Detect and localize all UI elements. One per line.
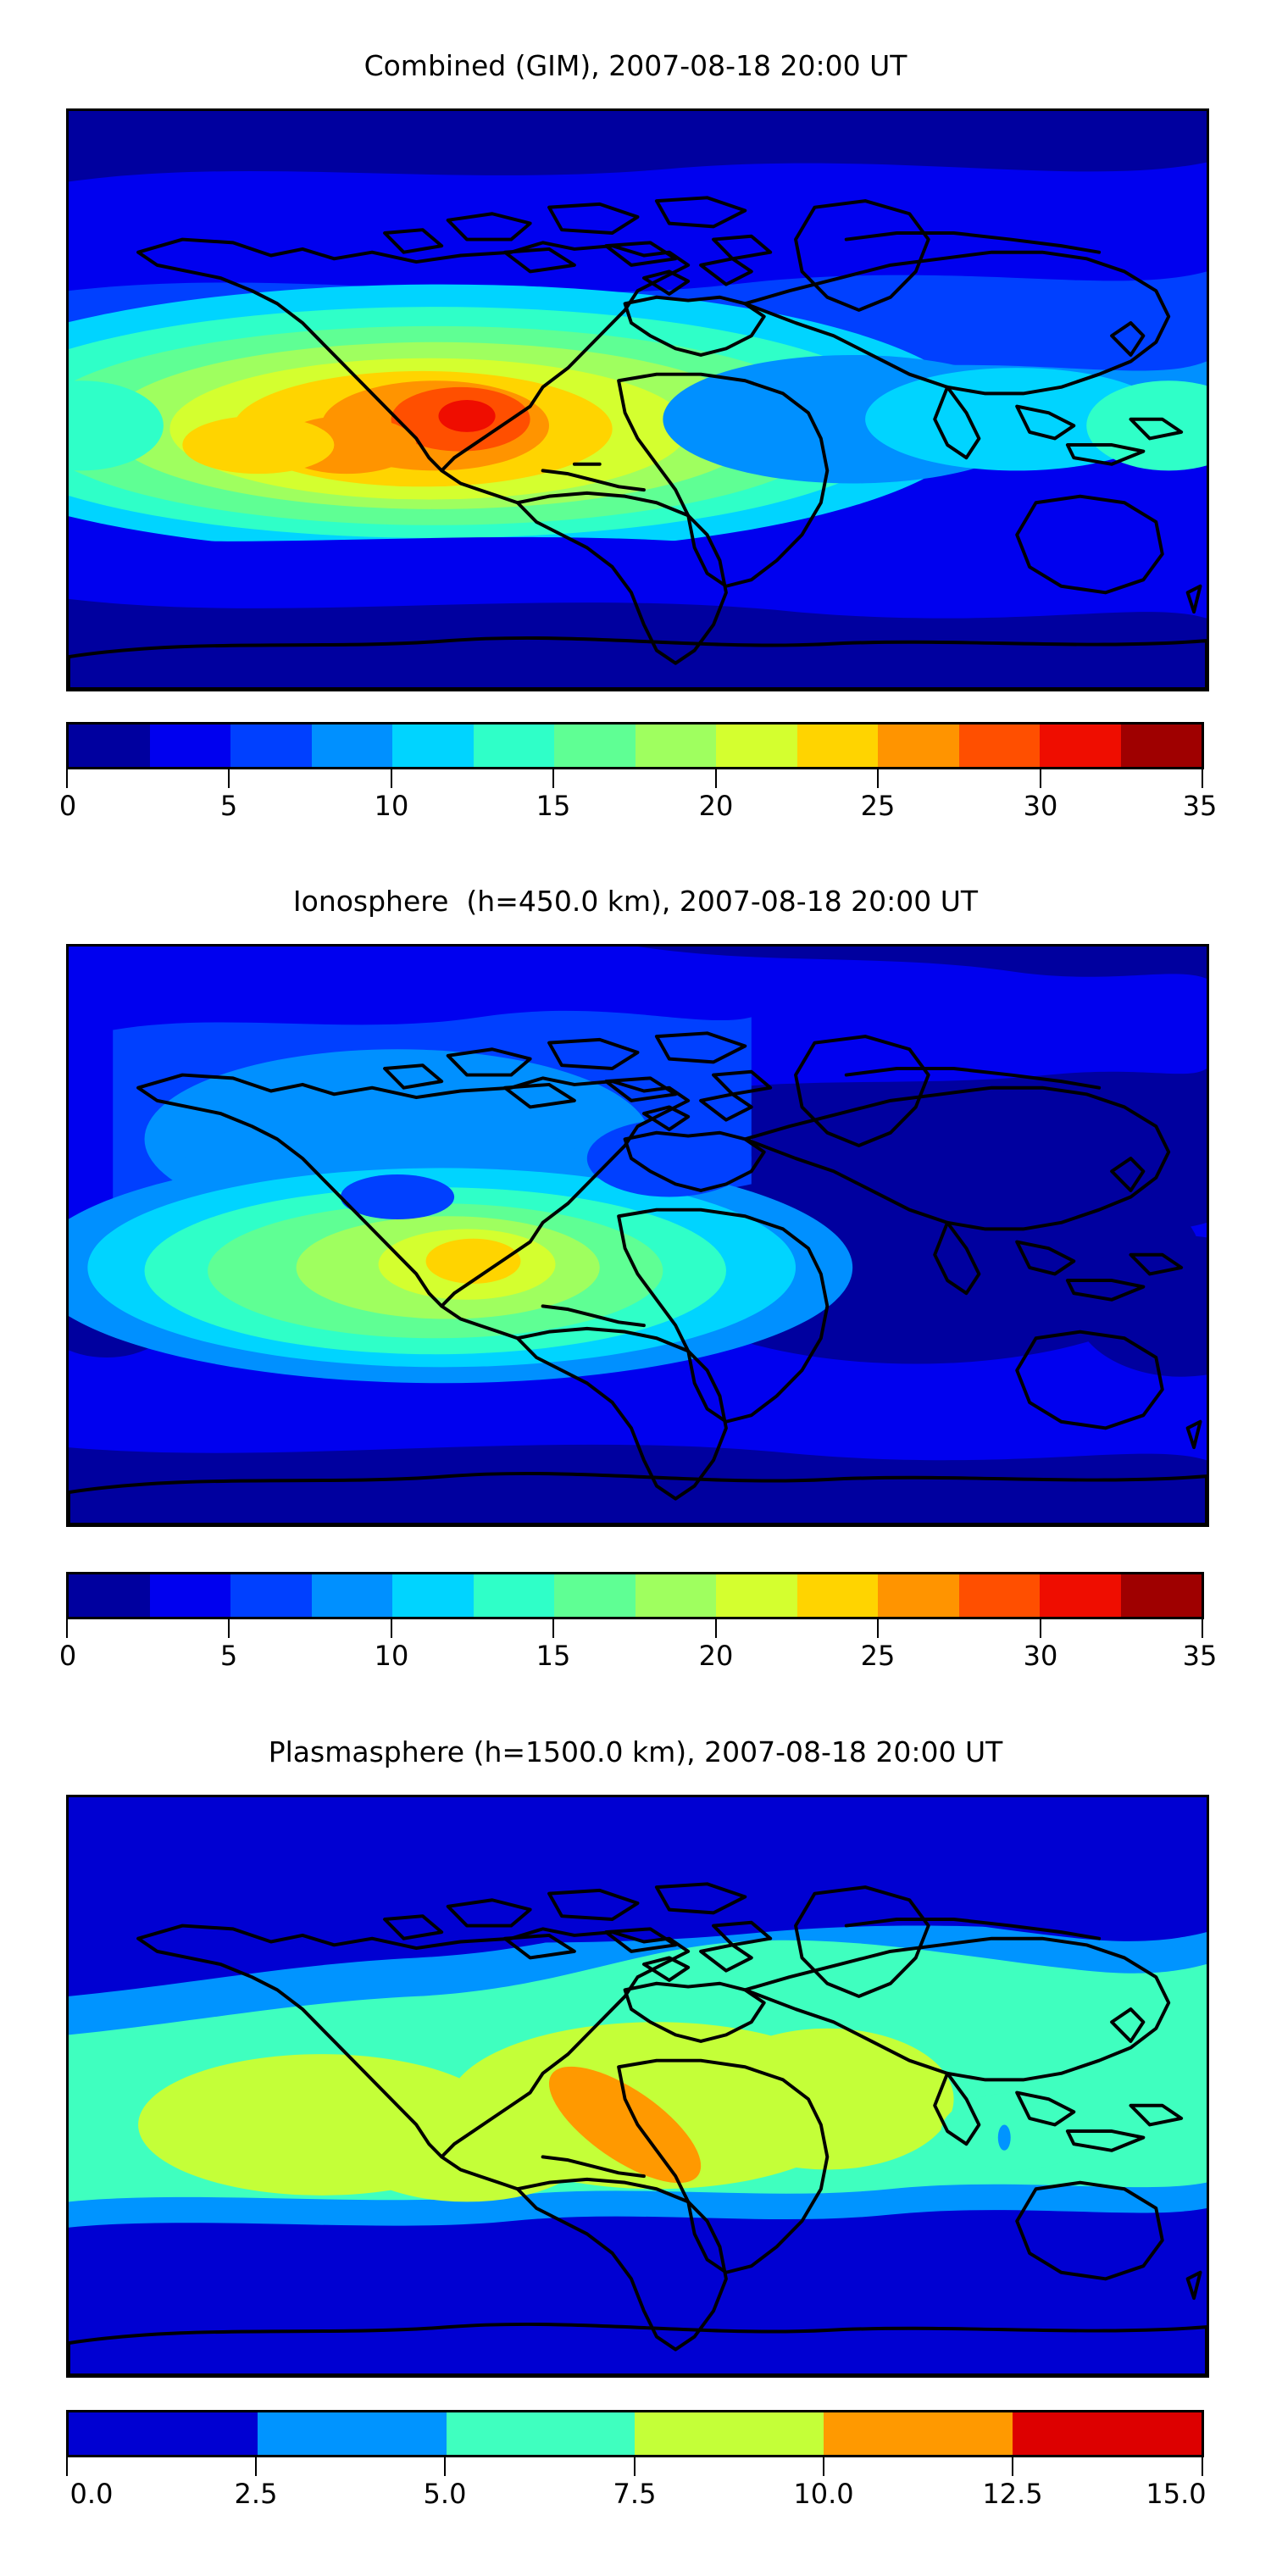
colorbar-tick-label: 10 [375,1640,409,1672]
colorbar-tick-label: 30 [1024,790,1058,822]
colorbar-band [716,724,797,767]
colorbar-tick-label: 30 [1024,1640,1058,1672]
colorbar-band [392,724,474,767]
colorbar-band [1040,724,1121,767]
colorbar-tick-label: 0 [59,1640,76,1672]
colorbar-ticks-plasmasphere: 0.0 2.5 5.0 7.5 10.0 12.5 15.0 [66,2457,1204,2576]
colorbar-tick [444,2457,446,2476]
map-raster-ionosphere [69,947,1207,1524]
colorbar-band [312,724,393,767]
panel-title-ionosphere: Ionosphere (h=450.0 km), 2007-08-18 20:0… [0,885,1271,918]
colorbar-band [230,1574,312,1617]
colorbar-band [392,1574,474,1617]
colorbar-tick [877,769,879,788]
panel-combined-gim: Combined (GIM), 2007-08-18 20:00 UT [0,0,1271,856]
colorbar-band [1013,2412,1202,2455]
colorbar-band [474,724,555,767]
colorbar-band [447,2412,635,2455]
colorbar-band [878,724,959,767]
colorbar-tick [877,1619,879,1638]
colorbar-tick [66,1619,68,1638]
colorbar-tick [1202,2457,1203,2476]
colorbar-tick-label: 15.0 [1146,2478,1206,2510]
colorbar-tick-label: 10.0 [793,2478,853,2510]
colorbar-tick [552,1619,554,1638]
colorbar-band [797,724,879,767]
colorbar-tick [391,769,392,788]
colorbar-band [230,724,312,767]
colorbar-band [312,1574,393,1617]
colorbar-band [69,724,150,767]
colorbar-tick-label: 5 [220,1640,237,1672]
colorbar-tick-label: 7.5 [613,2478,657,2510]
colorbar-band [878,1574,959,1617]
colorbar-tick [1012,2457,1013,2476]
colorbar-tick [1040,1619,1041,1638]
map-ionosphere-450km[interactable] [66,944,1209,1527]
colorbar-band [716,1574,797,1617]
map-raster-plasmasphere [69,1797,1207,2375]
colorbar-combined[interactable] [66,722,1204,769]
colorbar-band [474,1574,555,1617]
panel-title-plasmasphere: Plasmasphere (h=1500.0 km), 2007-08-18 2… [0,1735,1271,1768]
colorbar-tick-label: 35 [1183,1640,1218,1672]
map-combined-gim[interactable] [66,108,1209,691]
panel-title-combined: Combined (GIM), 2007-08-18 20:00 UT [0,49,1271,82]
colorbar-tick [391,1619,392,1638]
colorbar-tick-label: 15 [536,1640,571,1672]
colorbar-tick [634,2457,635,2476]
colorbar-band [1121,1574,1202,1617]
colorbar-band [69,1574,150,1617]
colorbar-tick [228,769,230,788]
colorbar-tick [66,769,68,788]
map-raster-combined [69,111,1207,689]
colorbar-band [1040,1574,1121,1617]
colorbar-band [635,724,717,767]
colorbar-band [554,724,635,767]
colorbar-tick [66,2457,68,2476]
panel-plasmasphere-1500km: Plasmasphere (h=1500.0 km), 2007-08-18 2… [0,1717,1271,2542]
colorbar-tick-label: 35 [1183,790,1218,822]
colorbar-tick-label: 10 [375,790,409,822]
colorbar-band [959,1574,1041,1617]
colorbar-band [797,1574,879,1617]
colorbar-band [69,2412,258,2455]
colorbar-wrap-plasmasphere: 0.0 2.5 5.0 7.5 10.0 12.5 15.0 [66,2410,1204,2529]
colorbar-wrap-combined: 0 5 10 15 20 25 30 35 [66,722,1204,841]
colorbar-tick-label: 5 [220,790,237,822]
colorbar-band [959,724,1041,767]
colorbar-tick-label: 5.0 [424,2478,467,2510]
colorbar-tick [1040,769,1041,788]
colorbar-tick-label: 12.5 [982,2478,1042,2510]
colorbar-tick [228,1619,230,1638]
figure-canvas: Combined (GIM), 2007-08-18 20:00 UT [0,0,1271,2542]
colorbar-tick-label: 25 [861,1640,896,1672]
colorbar-ionosphere[interactable] [66,1572,1204,1619]
colorbar-tick-label: 0.0 [70,2478,114,2510]
colorbar-tick [715,769,717,788]
map-plasmasphere-1500km[interactable] [66,1795,1209,2378]
colorbar-band [824,2412,1013,2455]
colorbar-tick-label: 2.5 [235,2478,278,2510]
colorbar-tick [552,769,554,788]
colorbar-tick-label: 25 [861,790,896,822]
colorbar-tick-label: 20 [699,790,734,822]
colorbar-band [150,1574,231,1617]
colorbar-tick [823,2457,824,2476]
colorbar-band [554,1574,635,1617]
colorbar-tick [715,1619,717,1638]
colorbar-band [258,2412,447,2455]
colorbar-tick [255,2457,257,2476]
colorbar-band [150,724,231,767]
colorbar-tick-label: 20 [699,1640,734,1672]
panel-ionosphere-450km: Ionosphere (h=450.0 km), 2007-08-18 20:0… [0,858,1271,1713]
colorbar-tick-label: 15 [536,790,571,822]
colorbar-tick-label: 0 [59,790,76,822]
colorbar-tick [1202,1619,1203,1638]
colorbar-wrap-ionosphere: 0 5 10 15 20 25 30 35 [66,1572,1204,1690]
colorbar-band [1121,724,1202,767]
colorbar-tick [1202,769,1203,788]
colorbar-band [635,1574,717,1617]
colorbar-plasmasphere[interactable] [66,2410,1204,2457]
colorbar-band [635,2412,824,2455]
